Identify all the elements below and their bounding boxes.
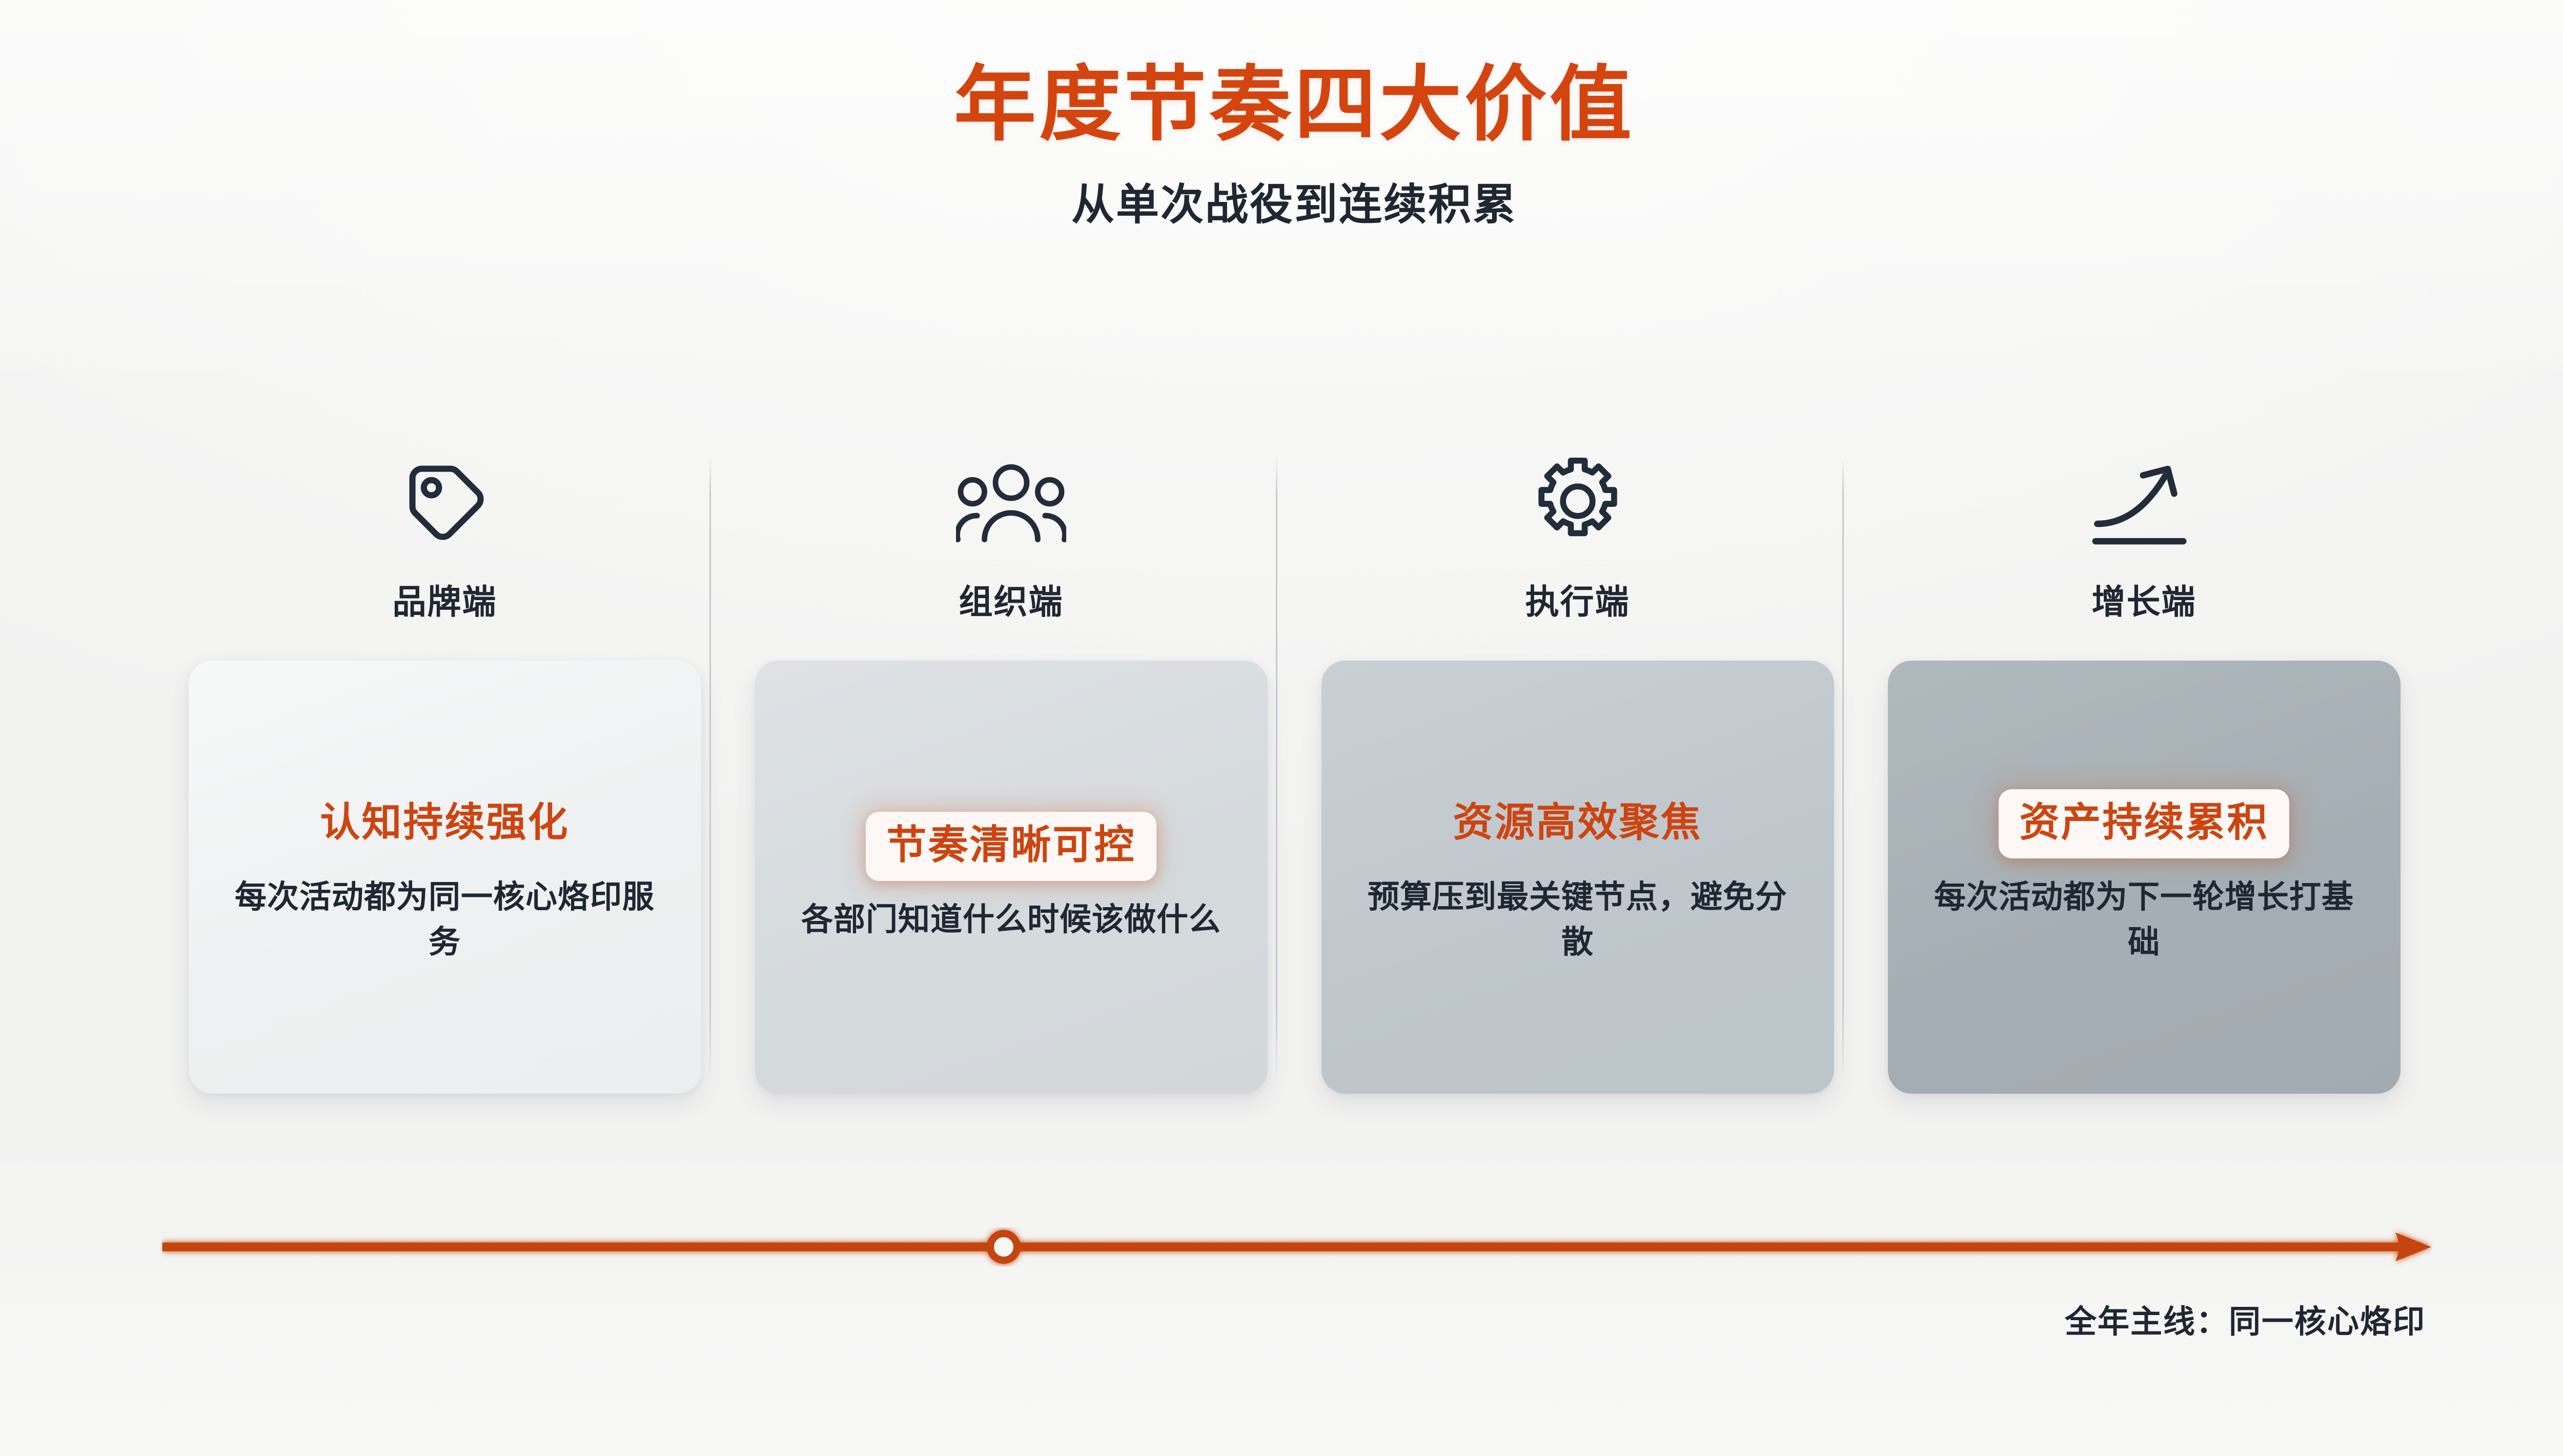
card-body: 每次活动都为同一核心烙印服务 (225, 875, 665, 965)
people-group-icon (956, 451, 1066, 551)
growth-arrow-icon (2091, 451, 2196, 551)
tag-icon (397, 451, 492, 551)
card-body: 每次活动都为下一轮增长打基础 (1924, 875, 2365, 965)
pillar-label: 组织端 (959, 575, 1064, 624)
pillar-label: 品牌端 (393, 575, 497, 624)
value-pillars: 品牌端 认知持续强化 每次活动都为同一核心烙印服务 组织端 节奏清晰可控 各部门… (161, 451, 2427, 1117)
pillar-card[interactable]: 资源高效聚焦 预算压到最关键节点，避免分散 (1321, 661, 1834, 1094)
pillar-card[interactable]: 资产持续累积 每次活动都为下一轮增长打基础 (1888, 661, 2401, 1094)
page-title: 年度节奏四大价值 (0, 61, 2563, 148)
pillar-label: 执行端 (1525, 575, 1630, 624)
card-body: 各部门知道什么时候该做什么 (801, 897, 1221, 942)
card-title: 资产持续累积 (1999, 789, 2289, 859)
timeline-arrow (161, 1227, 2432, 1266)
pillar-growth[interactable]: 增长端 资产持续累积 每次活动都为下一轮增长打基础 (1861, 451, 2427, 1117)
pillar-brand[interactable]: 品牌端 认知持续强化 每次活动都为同一核心烙印服务 (161, 451, 728, 1117)
pillar-execution[interactable]: 执行端 资源高效聚焦 预算压到最关键节点，避免分散 (1294, 451, 1861, 1117)
timeline-caption: 全年主线：同一核心烙印 (2065, 1296, 2426, 1342)
page-subtitle: 从单次战役到连续积累 (0, 170, 2563, 232)
pillar-card[interactable]: 认知持续强化 每次活动都为同一核心烙印服务 (189, 661, 701, 1094)
pillar-label: 增长端 (2092, 575, 2196, 624)
card-title: 认知持续强化 (320, 789, 569, 859)
pillar-card[interactable]: 节奏清晰可控 各部门知道什么时候该做什么 (755, 661, 1268, 1094)
card-title: 节奏清晰可控 (866, 812, 1156, 881)
card-body: 预算压到最关键节点，避免分散 (1357, 875, 1798, 965)
card-title: 资源高效聚焦 (1453, 789, 1702, 859)
pillar-organization[interactable]: 组织端 节奏清晰可控 各部门知道什么时候该做什么 (728, 451, 1294, 1117)
page-header: 年度节奏四大价值 从单次战役到连续积累 (0, 61, 2563, 232)
gear-icon (1532, 451, 1624, 551)
